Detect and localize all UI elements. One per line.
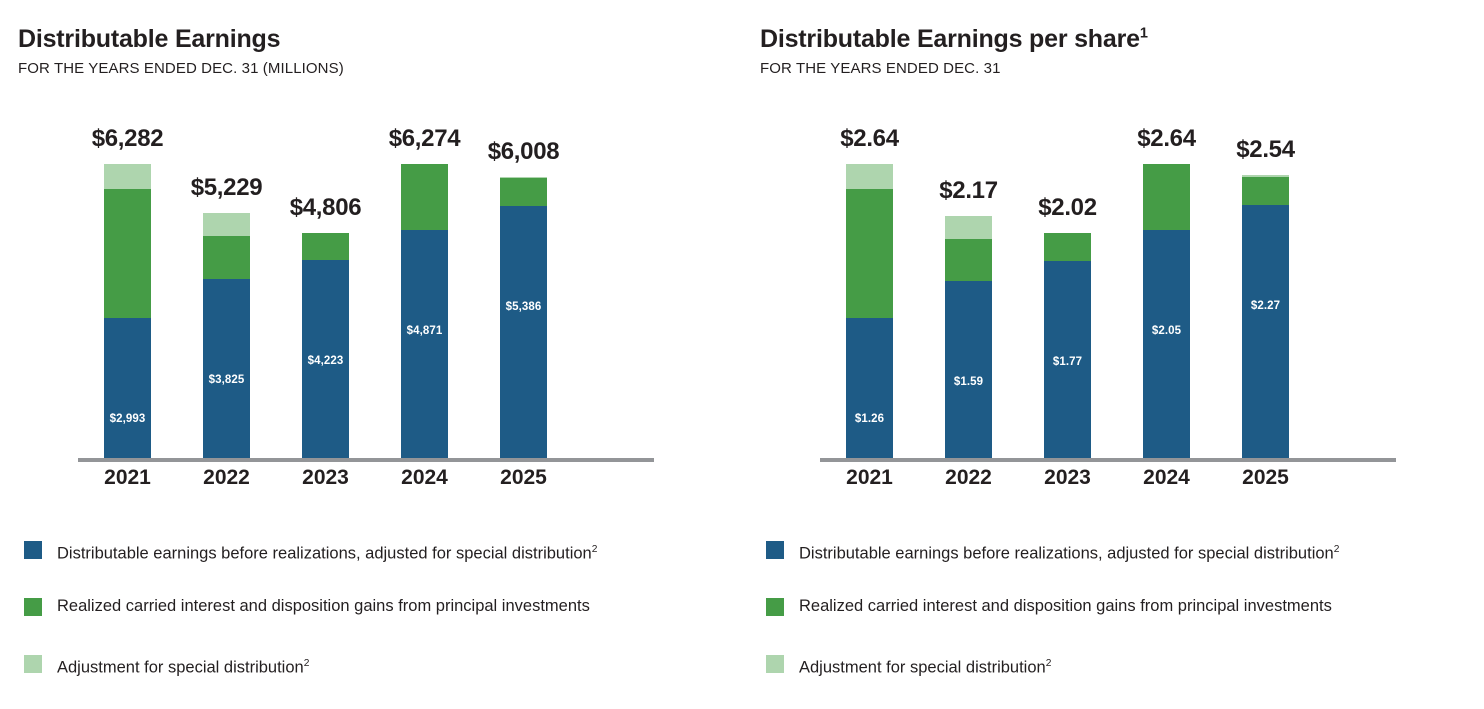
base-segment-2021	[846, 318, 893, 458]
x-axis-label-2022: 2022	[919, 466, 1018, 490]
base-segment-2024	[401, 230, 448, 458]
bar-total-label-2023: $4,806	[276, 194, 375, 222]
legend-label-mid: Realized carried interest and dispositio…	[799, 597, 1332, 616]
legend-swatch-base-icon	[24, 541, 42, 559]
x-axis-line-left	[78, 458, 654, 462]
legend-swatch-mid-icon	[766, 598, 784, 616]
legend-item-mid: Realized carried interest and dispositio…	[24, 597, 590, 617]
legend-item-top: Adjustment for special distribution2	[24, 654, 309, 674]
x-axis-labels-left: 20212022202320242025	[18, 466, 724, 500]
title-footnote-marker: 1	[1140, 25, 1148, 41]
carry-segment-2023	[302, 233, 349, 260]
carry-segment-2023	[1044, 233, 1091, 261]
adjustment-segment-2022	[945, 216, 992, 238]
bar-total-label-2022: $5,229	[177, 174, 276, 202]
bar-total-label-2023: $2.02	[1018, 194, 1117, 222]
adjustment-segment-2025	[1242, 175, 1289, 177]
legend-label-top: Adjustment for special distribution2	[799, 654, 1051, 678]
x-axis-label-2024: 2024	[1117, 466, 1216, 490]
legend-label-mid: Realized carried interest and dispositio…	[57, 597, 590, 616]
carry-segment-2025	[1242, 177, 1289, 205]
bar-total-label-2025: $2.54	[1216, 136, 1315, 164]
carry-segment-2024	[1143, 164, 1190, 230]
x-axis-label-2024: 2024	[375, 466, 474, 490]
plot-area-left: $2,993$6,282$3,825$5,229$4,223$4,806$4,8…	[18, 110, 724, 462]
x-axis-label-2025: 2025	[1216, 466, 1315, 490]
bar-total-label-2024: $6,274	[375, 125, 474, 153]
legend-swatch-mid-icon	[24, 598, 42, 616]
bar-value-label-2025: $5,386	[500, 301, 547, 313]
bar-total-label-2024: $2.64	[1117, 125, 1216, 153]
bar-value-label-2023: $1.77	[1044, 356, 1091, 368]
base-segment-2024	[1143, 230, 1190, 458]
base-segment-2025	[1242, 205, 1289, 458]
bar-total-label-2021: $2.64	[820, 125, 919, 153]
bar-value-label-2021: $1.26	[846, 413, 893, 425]
adjustment-segment-2021	[846, 164, 893, 189]
bar-value-label-2022: $1.59	[945, 376, 992, 388]
x-axis-line-right	[820, 458, 1396, 462]
chart-title-right-text: Distributable Earnings per share	[760, 25, 1140, 53]
adjustment-segment-2021	[104, 164, 151, 189]
base-segment-2022	[203, 279, 250, 458]
x-axis-labels-right: 20212022202320242025	[760, 466, 1466, 500]
bar-value-label-2025: $2.27	[1242, 300, 1289, 312]
legend-label-top: Adjustment for special distribution2	[57, 654, 309, 678]
chart-title-left-text: Distributable Earnings	[18, 25, 280, 53]
legend-item-base: Distributable earnings before realizatio…	[766, 540, 1339, 560]
legend-label-base: Distributable earnings before realizatio…	[57, 540, 597, 564]
legend-item-base: Distributable earnings before realizatio…	[24, 540, 597, 560]
adjustment-segment-2022	[203, 213, 250, 236]
page-title-left: Distributable Earnings	[18, 25, 280, 54]
x-axis-label-2021: 2021	[78, 466, 177, 490]
plot-area-right: $1.26$2.64$1.59$2.17$1.77$2.02$2.05$2.64…	[760, 110, 1466, 462]
base-segment-2022	[945, 281, 992, 458]
chart-subtitle-left: FOR THE YEARS ENDED DEC. 31 (MILLIONS)	[18, 60, 344, 77]
bar-value-label-2022: $3,825	[203, 374, 250, 386]
chart-panel-distributable-earnings: Distributable Earnings FOR THE YEARS END…	[0, 0, 742, 709]
chart-panel-distributable-earnings-per-share: Distributable Earnings per share1 FOR TH…	[742, 0, 1484, 709]
carry-segment-2025	[500, 178, 547, 206]
bar-total-label-2021: $6,282	[78, 125, 177, 153]
x-axis-label-2025: 2025	[474, 466, 573, 490]
bar-total-label-2022: $2.17	[919, 177, 1018, 205]
legend-footnote-marker: 2	[1334, 544, 1340, 555]
bar-total-label-2025: $6,008	[474, 138, 573, 166]
legend-swatch-top-icon	[766, 655, 784, 673]
legend-footnote-marker: 2	[592, 544, 598, 555]
carry-segment-2021	[846, 189, 893, 318]
carry-segment-2021	[104, 189, 151, 318]
chart-subtitle-right: FOR THE YEARS ENDED DEC. 31	[760, 60, 1001, 77]
legend-swatch-base-icon	[766, 541, 784, 559]
x-axis-label-2023: 2023	[276, 466, 375, 490]
carry-segment-2022	[203, 236, 250, 279]
legend-label-base: Distributable earnings before realizatio…	[799, 540, 1339, 564]
x-axis-label-2021: 2021	[820, 466, 919, 490]
legend-swatch-top-icon	[24, 655, 42, 673]
legend-item-mid: Realized carried interest and dispositio…	[766, 597, 1332, 617]
legend-footnote-marker: 2	[1046, 658, 1052, 669]
bar-value-label-2024: $4,871	[401, 325, 448, 337]
bar-value-label-2024: $2.05	[1143, 325, 1190, 337]
legend-footnote-marker: 2	[304, 658, 310, 669]
bar-value-label-2021: $2,993	[104, 413, 151, 425]
carry-segment-2024	[401, 164, 448, 230]
x-axis-label-2023: 2023	[1018, 466, 1117, 490]
legend-item-top: Adjustment for special distribution2	[766, 654, 1051, 674]
base-segment-2021	[104, 318, 151, 458]
page-title-right: Distributable Earnings per share1	[760, 25, 1148, 54]
adjustment-segment-2025	[500, 177, 547, 178]
carry-segment-2022	[945, 239, 992, 281]
base-segment-2025	[500, 206, 547, 458]
x-axis-label-2022: 2022	[177, 466, 276, 490]
bar-value-label-2023: $4,223	[302, 355, 349, 367]
